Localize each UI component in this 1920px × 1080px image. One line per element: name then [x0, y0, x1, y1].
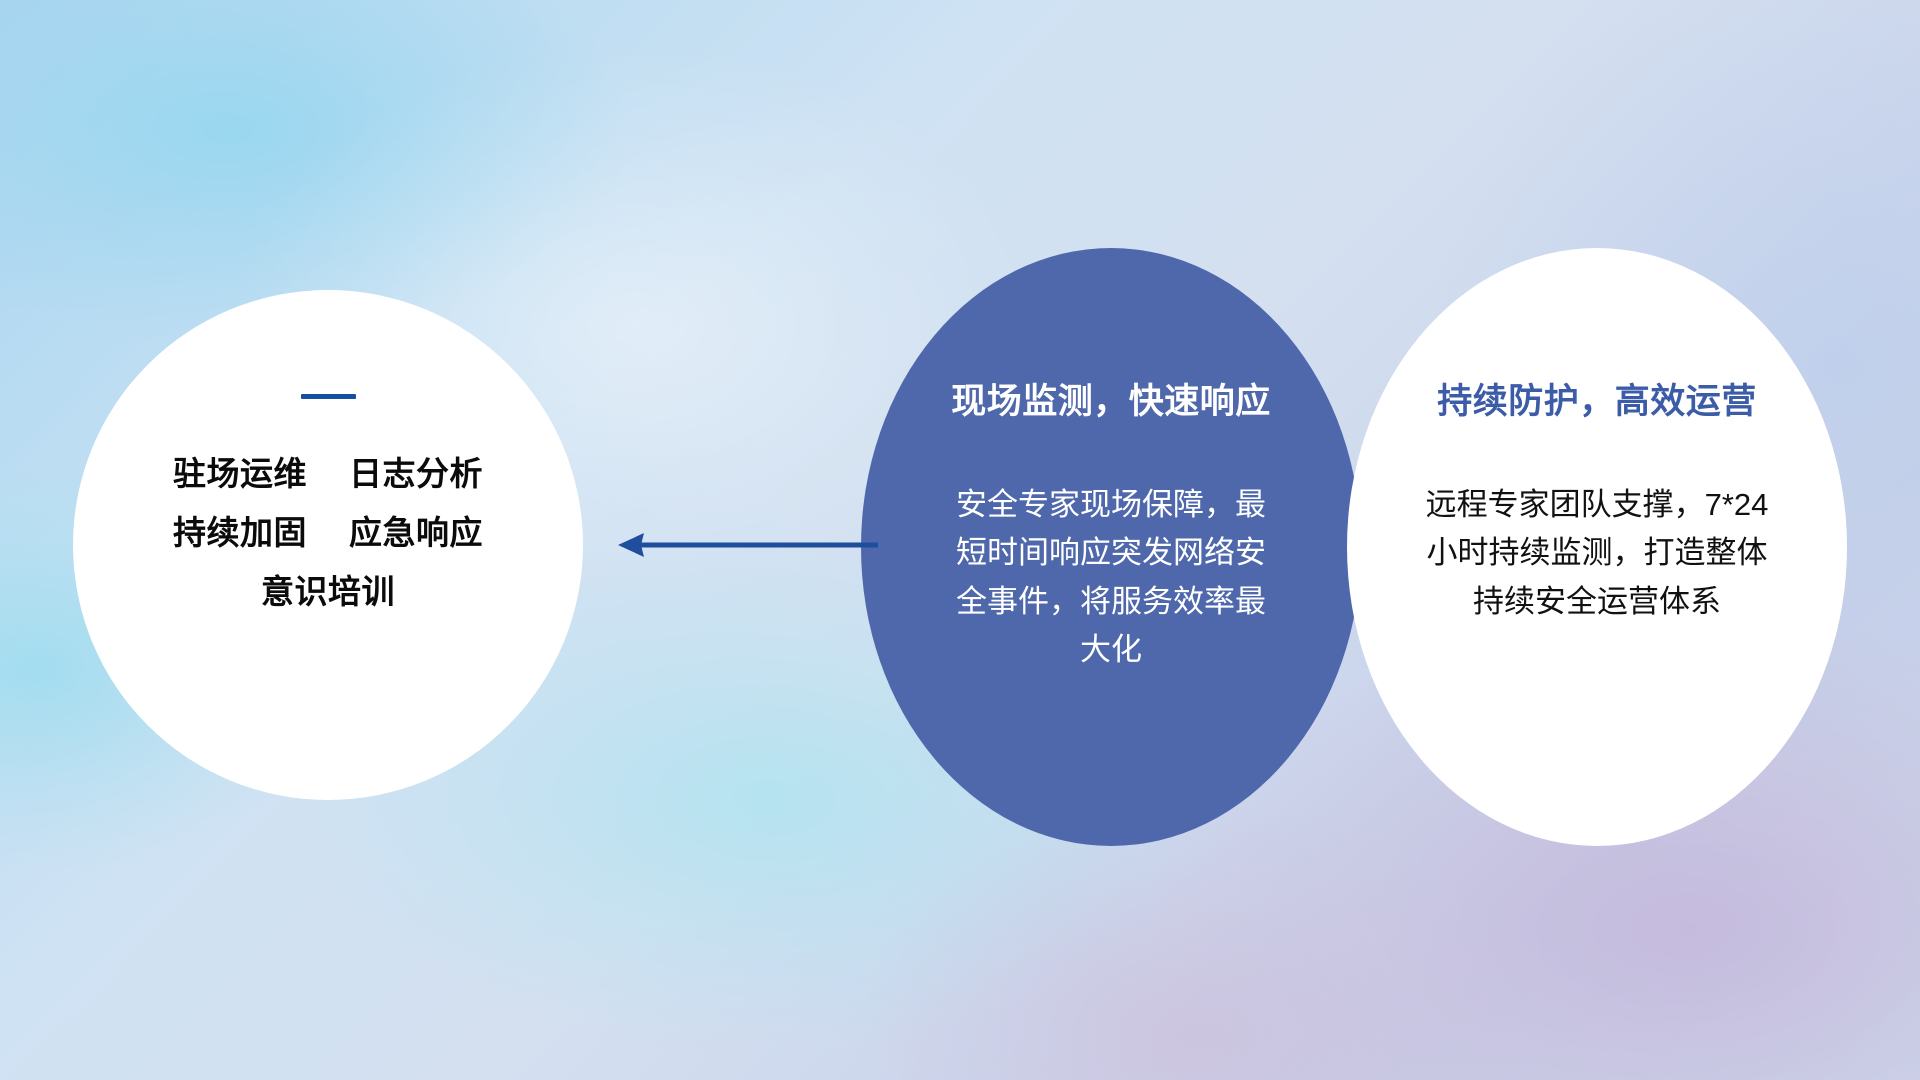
capability-tag: 意识培训	[261, 575, 395, 608]
capability-tag-grid: 驻场运维 日志分析 持续加固 应急响应 意识培训	[173, 457, 483, 608]
capability-tag-row: 驻场运维 日志分析	[173, 457, 483, 490]
middle-circle-body: 安全专家现场保障，最短时间响应突发网络安全事件，将服务效率最大化	[941, 481, 1281, 674]
right-circle-content: 持续防护，高效运营 远程专家团队支撑，7*24小时持续监测，打造整体持续安全运营…	[1347, 248, 1847, 846]
capability-tag: 持续加固	[173, 516, 307, 549]
capability-tag: 应急响应	[349, 516, 483, 549]
capability-tag-row: 意识培训	[261, 575, 395, 608]
slide-canvas: 驻场运维 日志分析 持续加固 应急响应 意识培训 现场监测，快速响应 安全专家现…	[0, 0, 1920, 1080]
capability-tag-row: 持续加固 应急响应	[173, 516, 483, 549]
capability-tag: 驻场运维	[173, 457, 307, 490]
capability-tag: 日志分析	[349, 457, 483, 490]
left-circle-content: 驻场运维 日志分析 持续加固 应急响应 意识培训	[73, 290, 583, 800]
middle-circle-title: 现场监测，快速响应	[951, 381, 1271, 423]
right-circle-title: 持续防护，高效运营	[1437, 381, 1757, 423]
right-circle-body: 远程专家团队支撑，7*24小时持续监测，打造整体持续安全运营体系	[1412, 481, 1782, 626]
middle-circle-content: 现场监测，快速响应 安全专家现场保障，最短时间响应突发网络安全事件，将服务效率最…	[861, 248, 1361, 846]
flow-arrow-icon	[610, 520, 880, 570]
accent-dash-icon	[301, 394, 356, 399]
